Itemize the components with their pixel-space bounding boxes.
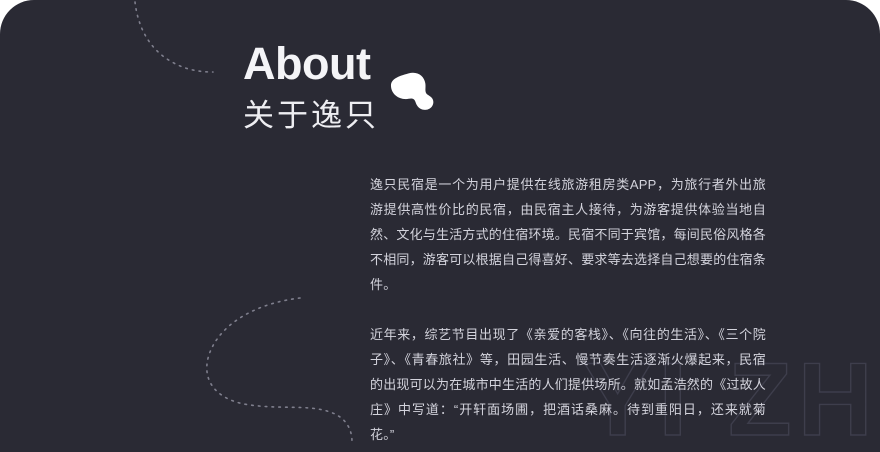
paragraph-1: 逸只民宿是一个为用户提供在线旅游租房类APP，为旅行者外出旅游提供高性价比的民宿… <box>370 172 766 297</box>
page-title: About <box>243 38 503 90</box>
dotted-curve-top-icon <box>135 2 213 72</box>
dotted-curve-bottom-icon <box>207 298 352 442</box>
heading-block: About 关于逸只 <box>243 38 503 138</box>
about-section-screenshot: YI ZHI About 关于逸只 逸只民宿是一个为用户提供在线旅游租房类APP… <box>0 0 880 452</box>
paragraph-2: 近年来，综艺节目出现了《亲爱的客栈》、《向往的生活》、《三个院子》、《青春旅社》… <box>370 322 766 447</box>
page-subtitle: 关于逸只 <box>243 94 503 138</box>
blob-logo-icon <box>389 72 437 112</box>
about-body-copy: 逸只民宿是一个为用户提供在线旅游租房类APP，为旅行者外出旅游提供高性价比的民宿… <box>370 172 766 447</box>
dark-panel: YI ZHI About 关于逸只 逸只民宿是一个为用户提供在线旅游租房类APP… <box>0 0 880 452</box>
